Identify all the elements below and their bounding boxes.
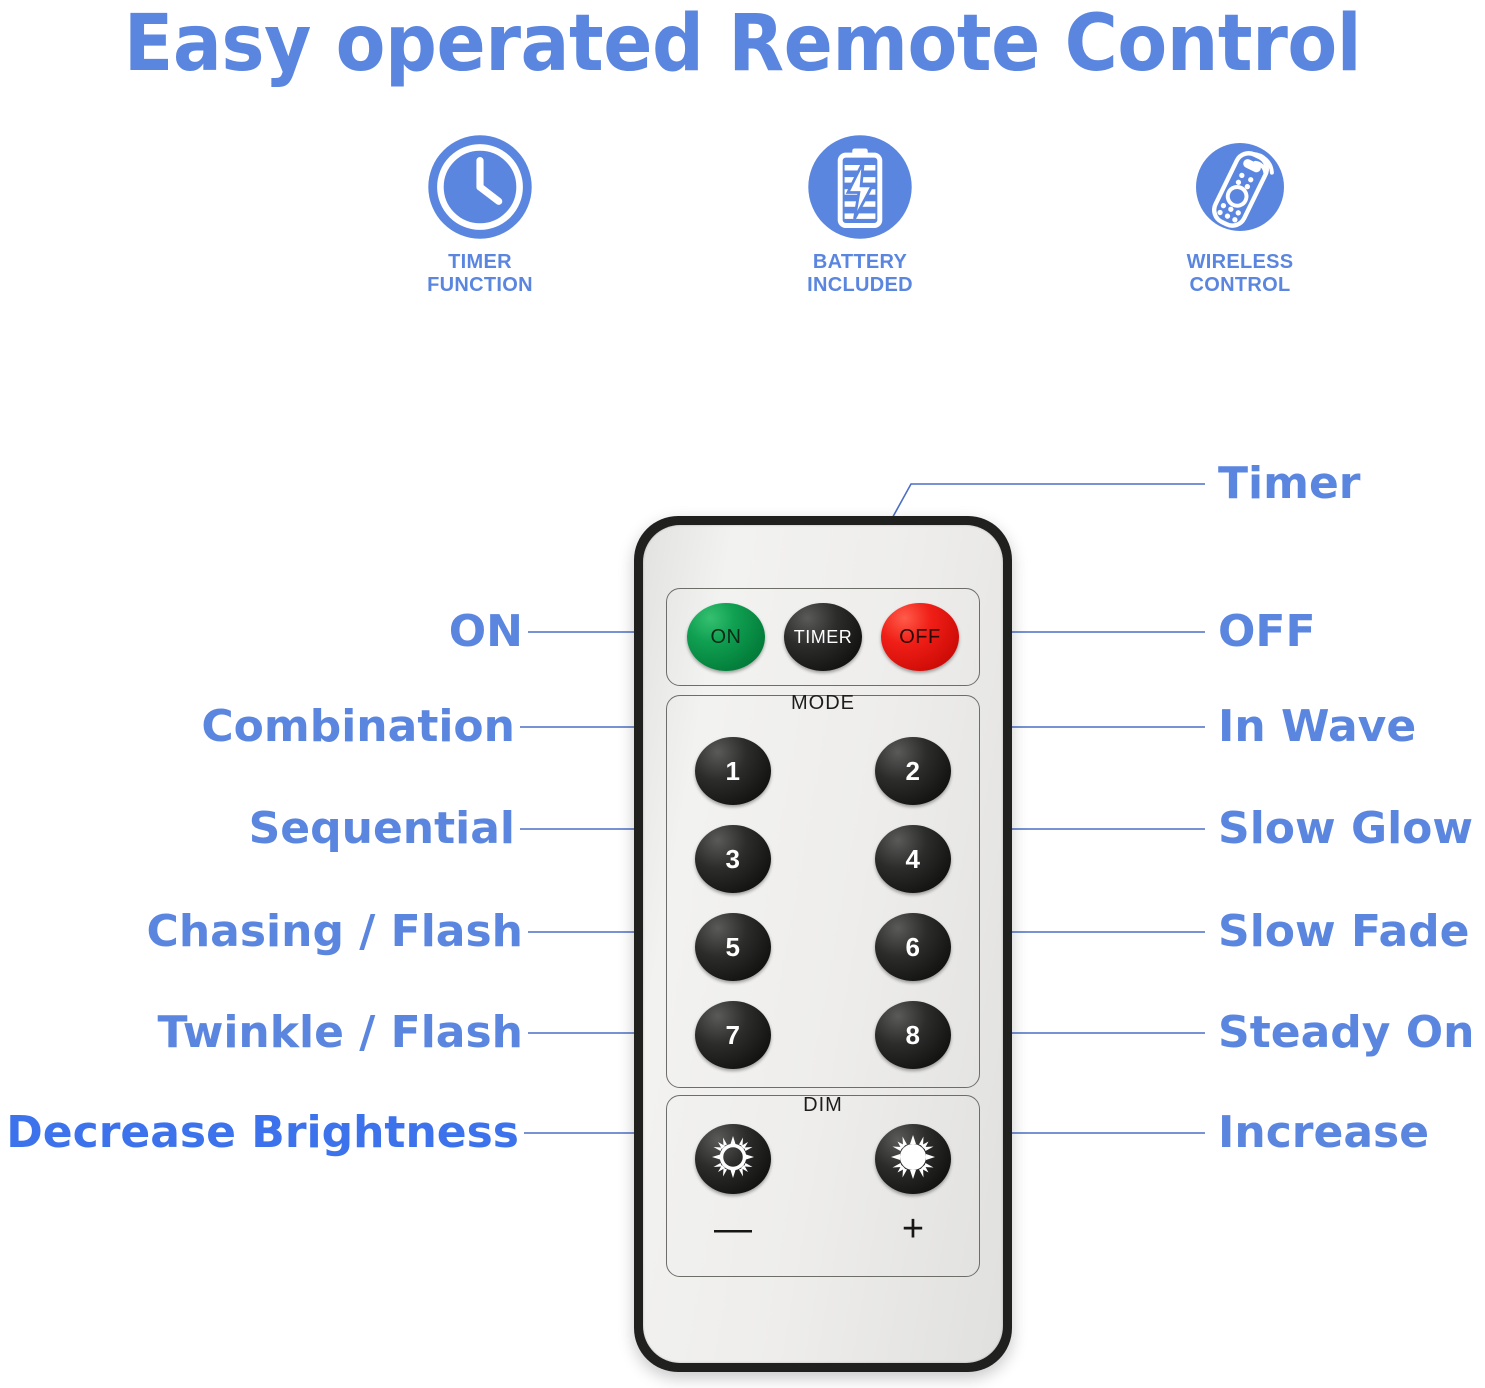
callout-twinkle-flash: Twinkle / Flash (158, 1009, 523, 1057)
mode-button-label: 7 (726, 1020, 741, 1051)
mode-button-8[interactable]: 8 (875, 1001, 951, 1069)
remote-control: ON TIMER OFF MODE 1 2 3 (634, 516, 1012, 1372)
mode-button-3[interactable]: 3 (695, 825, 771, 893)
mode-button-2[interactable]: 2 (875, 737, 951, 805)
mode-panel: MODE 1 2 3 4 5 6 (666, 695, 980, 1088)
callout-slow-fade: Slow Fade (1218, 908, 1469, 956)
feature-badge-battery: BATTERY INCLUDED (710, 132, 1010, 297)
remote-faceplate: ON TIMER OFF MODE 1 2 3 (643, 525, 1003, 1363)
mode-button-label: 4 (906, 844, 921, 875)
callout-decrease-brightness: Decrease Brightness (6, 1109, 519, 1157)
sun-hollow-icon (708, 1132, 758, 1187)
dim-increase-button[interactable] (875, 1124, 951, 1194)
callout-timer: Timer (1218, 460, 1360, 508)
callout-increase: Increase (1218, 1109, 1429, 1157)
page-title: Easy operated Remote Control (52, 2, 1433, 86)
clock-icon (425, 132, 535, 242)
power-panel: ON TIMER OFF (666, 588, 980, 686)
feature-badge-timer: TIMER FUNCTION (330, 132, 630, 297)
infographic-page: Easy operated Remote Control TIMER FUNCT… (0, 0, 1485, 1388)
remote-signal-icon (1185, 132, 1295, 242)
dim-minus-sign: — (695, 1210, 771, 1248)
callout-in-wave: In Wave (1218, 703, 1416, 751)
callout-off: OFF (1218, 608, 1316, 656)
off-button-label: OFF (899, 626, 941, 649)
on-button[interactable]: ON (687, 603, 765, 671)
mode-button-7[interactable]: 7 (695, 1001, 771, 1069)
off-button[interactable]: OFF (881, 603, 959, 671)
mode-button-label: 8 (906, 1020, 921, 1051)
mode-button-label: 5 (726, 932, 741, 963)
dim-decrease-button[interactable] (695, 1124, 771, 1194)
mode-button-label: 6 (906, 932, 921, 963)
mode-button-5[interactable]: 5 (695, 913, 771, 981)
mode-button-6[interactable]: 6 (875, 913, 951, 981)
timer-button[interactable]: TIMER (784, 603, 862, 671)
callout-slow-glow: Slow Glow (1218, 805, 1473, 853)
mode-button-label: 3 (726, 844, 741, 875)
battery-icon (805, 132, 915, 242)
feature-badge-label: WIRELESS CONTROL (1187, 251, 1294, 297)
callout-sequential: Sequential (249, 805, 515, 853)
dim-plus-sign: + (875, 1210, 951, 1248)
sun-solid-icon (888, 1132, 938, 1187)
on-button-label: ON (711, 626, 742, 649)
mode-button-label: 1 (726, 756, 741, 787)
dim-panel: DIM (666, 1095, 980, 1277)
feature-badge-wireless: WIRELESS CONTROL (1090, 132, 1390, 297)
feature-badge-row: TIMER FUNCTION BATTERY INCLUDED (330, 132, 1390, 322)
timer-button-label: TIMER (794, 627, 853, 648)
mode-caption: MODE (667, 692, 979, 715)
feature-badge-label: TIMER FUNCTION (427, 251, 533, 297)
callout-chasing-flash: Chasing / Flash (147, 908, 523, 956)
dim-caption: DIM (667, 1094, 979, 1117)
callout-combination: Combination (201, 703, 515, 751)
mode-button-4[interactable]: 4 (875, 825, 951, 893)
mode-button-1[interactable]: 1 (695, 737, 771, 805)
feature-badge-label: BATTERY INCLUDED (807, 251, 913, 297)
callout-steady-on: Steady On (1218, 1009, 1474, 1057)
callout-on: ON (449, 608, 523, 656)
mode-button-label: 2 (906, 756, 921, 787)
